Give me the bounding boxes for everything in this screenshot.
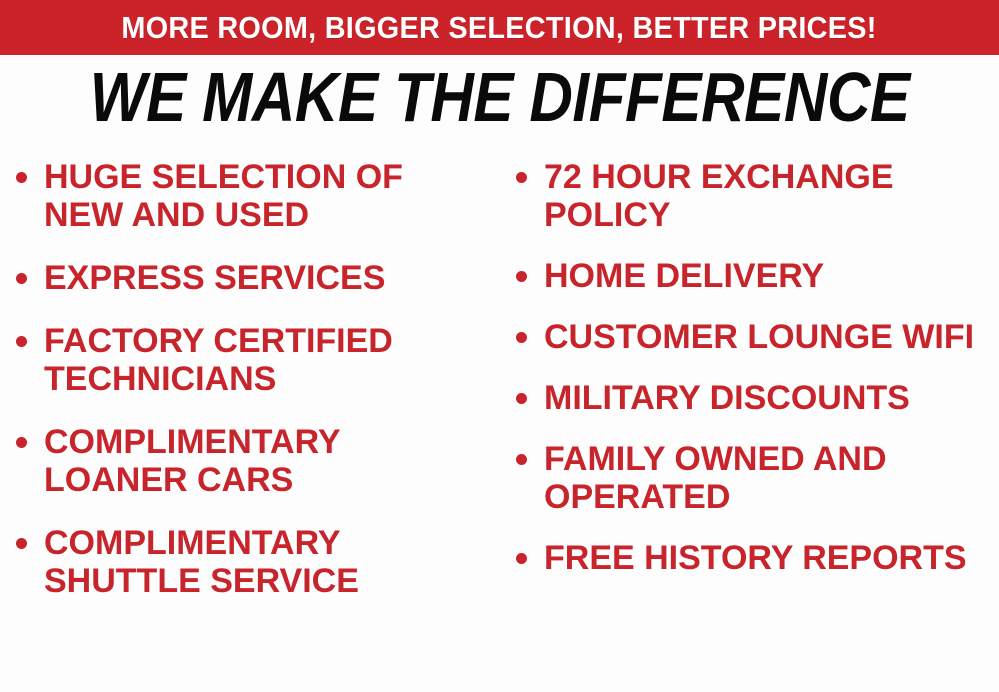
list-item: HOME DELIVERY (516, 257, 999, 295)
list-item: COMPLIMENTARY SHUTTLE SERVICE (16, 524, 500, 600)
bullet-dot-icon (516, 332, 527, 343)
bullet-dot-icon (16, 538, 27, 549)
list-item-label: FACTORY CERTIFIED TECHNICIANS (44, 322, 474, 398)
list-item-label: 72 HOUR EXCHANGE POLICY (544, 158, 984, 234)
bullet-dot-icon (516, 553, 527, 564)
list-item-label: COMPLIMENTARY SHUTTLE SERVICE (44, 524, 474, 600)
top-banner: MORE ROOM, BIGGER SELECTION, BETTER PRIC… (0, 0, 999, 55)
benefits-column-right: 72 HOUR EXCHANGE POLICY HOME DELIVERY CU… (500, 158, 999, 600)
bullet-dot-icon (16, 336, 27, 347)
list-item: FACTORY CERTIFIED TECHNICIANS (16, 322, 500, 398)
list-item-label: FAMILY OWNED AND OPERATED (544, 440, 984, 516)
list-item: FAMILY OWNED AND OPERATED (516, 440, 999, 516)
bullet-dot-icon (516, 454, 527, 465)
list-item-label: FREE HISTORY REPORTS (544, 539, 967, 577)
list-item: COMPLIMENTARY LOANER CARS (16, 423, 500, 499)
banner-headline-text: MORE ROOM, BIGGER SELECTION, BETTER PRIC… (122, 12, 877, 43)
bullet-dot-icon (516, 271, 527, 282)
list-item-label: EXPRESS SERVICES (44, 259, 385, 297)
list-item: FREE HISTORY REPORTS (516, 539, 999, 577)
list-item: HUGE SELECTION OF NEW AND USED (16, 158, 500, 234)
list-item-label: HUGE SELECTION OF NEW AND USED (44, 158, 474, 234)
bullet-dot-icon (516, 172, 527, 183)
list-item: MILITARY DISCOUNTS (516, 379, 999, 417)
list-item: 72 HOUR EXCHANGE POLICY (516, 158, 999, 234)
list-item-label: COMPLIMENTARY LOANER CARS (44, 423, 474, 499)
bullet-dot-icon (16, 172, 27, 183)
bullet-dot-icon (16, 273, 27, 284)
bullet-dot-icon (16, 437, 27, 448)
promo-poster: MORE ROOM, BIGGER SELECTION, BETTER PRIC… (0, 0, 999, 692)
main-headline-text: WE MAKE THE DIFFERENCE (90, 60, 910, 134)
main-headline: WE MAKE THE DIFFERENCE (0, 60, 999, 134)
list-item-label: HOME DELIVERY (544, 257, 824, 295)
benefits-column-left: HUGE SELECTION OF NEW AND USED EXPRESS S… (0, 158, 500, 625)
list-item-label: MILITARY DISCOUNTS (544, 379, 910, 417)
benefits-columns: HUGE SELECTION OF NEW AND USED EXPRESS S… (0, 158, 999, 692)
list-item-label: CUSTOMER LOUNGE WIFI (544, 318, 974, 356)
list-item: CUSTOMER LOUNGE WIFI (516, 318, 999, 356)
bullet-dot-icon (516, 393, 527, 404)
list-item: EXPRESS SERVICES (16, 259, 500, 297)
